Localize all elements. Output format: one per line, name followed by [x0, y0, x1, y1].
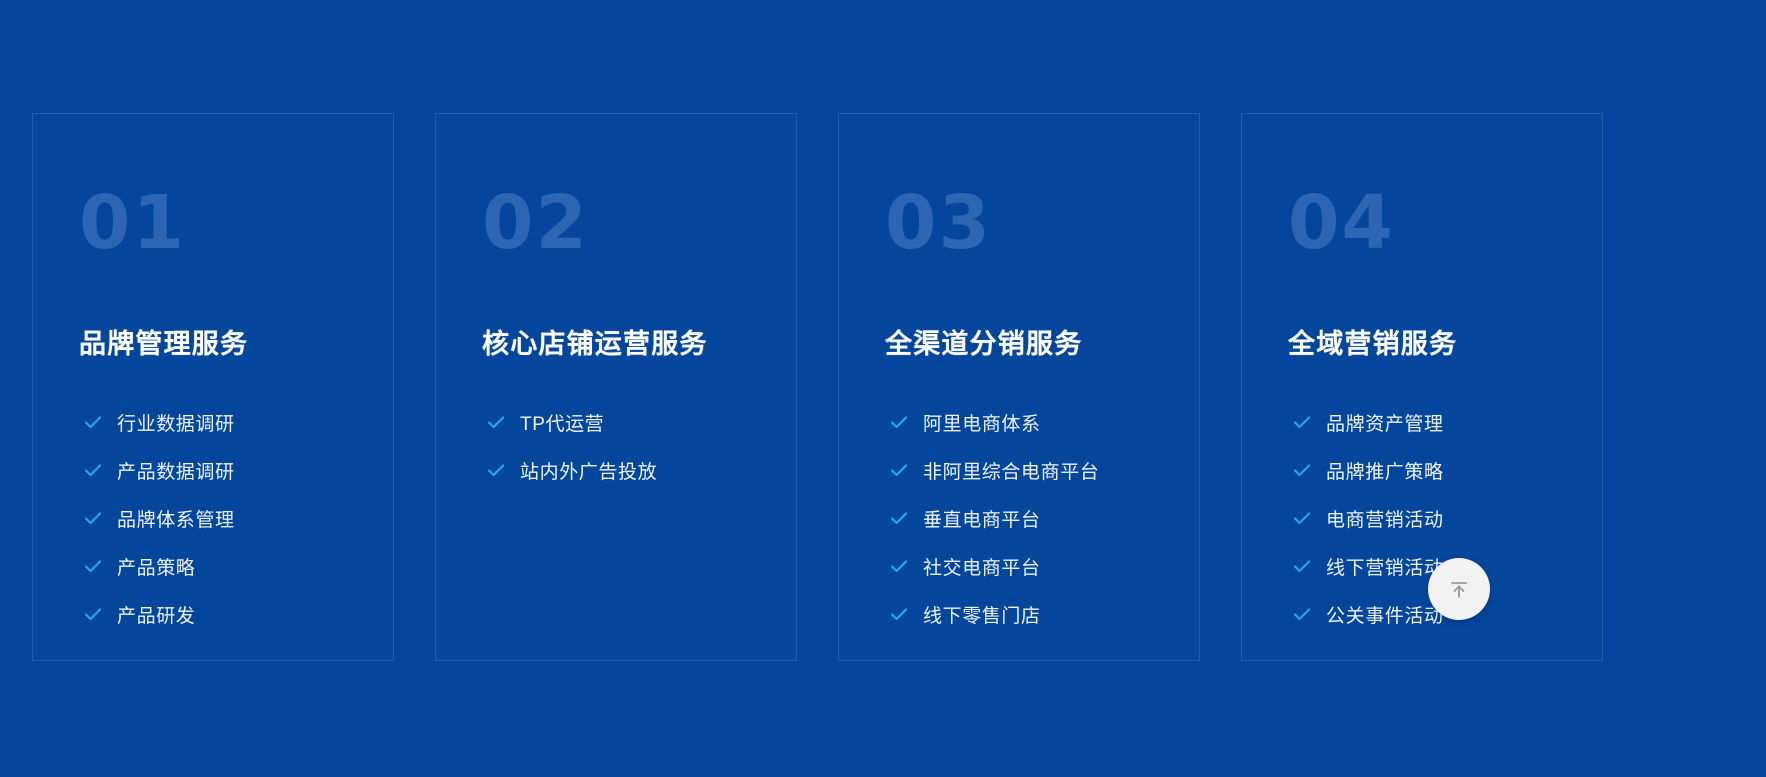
arrow-up-to-line-icon — [1446, 576, 1472, 602]
check-icon — [889, 556, 923, 576]
check-icon — [83, 556, 117, 576]
check-icon — [83, 508, 117, 528]
check-icon — [1292, 604, 1326, 624]
check-icon — [889, 460, 923, 480]
list-item-label: 品牌推广策略 — [1326, 457, 1444, 484]
card-number: 02 — [482, 186, 796, 260]
list-item-label: 非阿里综合电商平台 — [923, 457, 1099, 484]
list-item-label: 电商营销活动 — [1326, 505, 1444, 532]
list-item[interactable]: 品牌推广策略 — [1292, 446, 1602, 494]
card-number: 04 — [1288, 186, 1602, 260]
service-card[interactable]: 04全域营销服务品牌资产管理品牌推广策略电商营销活动线下营销活动公关事件活动 — [1241, 113, 1603, 661]
card-title: 全渠道分销服务 — [885, 328, 1199, 360]
card-number: 03 — [885, 186, 1199, 260]
card-title: 全域营销服务 — [1288, 328, 1602, 360]
list-item[interactable]: 非阿里综合电商平台 — [889, 446, 1199, 494]
card-feature-list: 阿里电商体系非阿里综合电商平台垂直电商平台社交电商平台线下零售门店 — [889, 398, 1199, 638]
check-icon — [1292, 508, 1326, 528]
list-item[interactable]: 行业数据调研 — [83, 398, 393, 446]
check-icon — [1292, 556, 1326, 576]
check-icon — [889, 604, 923, 624]
check-icon — [889, 412, 923, 432]
service-card[interactable]: 02核心店铺运营服务TP代运营站内外广告投放 — [435, 113, 797, 661]
check-icon — [889, 508, 923, 528]
list-item-label: 产品策略 — [117, 553, 195, 580]
list-item-label: 品牌体系管理 — [117, 505, 235, 532]
list-item-label: 产品研发 — [117, 601, 195, 628]
card-feature-list: TP代运营站内外广告投放 — [486, 398, 796, 494]
check-icon — [486, 412, 520, 432]
list-item-label: TP代运营 — [520, 409, 604, 436]
card-title: 品牌管理服务 — [79, 328, 393, 360]
list-item-label: 品牌资产管理 — [1326, 409, 1444, 436]
list-item[interactable]: 站内外广告投放 — [486, 446, 796, 494]
list-item[interactable]: 社交电商平台 — [889, 542, 1199, 590]
list-item[interactable]: 垂直电商平台 — [889, 494, 1199, 542]
check-icon — [83, 460, 117, 480]
check-icon — [1292, 412, 1326, 432]
list-item-label: 站内外广告投放 — [520, 457, 657, 484]
service-card[interactable]: 01品牌管理服务行业数据调研产品数据调研品牌体系管理产品策略产品研发 — [32, 113, 394, 661]
list-item-label: 公关事件活动 — [1326, 601, 1444, 628]
list-item[interactable]: 产品数据调研 — [83, 446, 393, 494]
list-item-label: 阿里电商体系 — [923, 409, 1041, 436]
check-icon — [486, 460, 520, 480]
list-item[interactable]: 电商营销活动 — [1292, 494, 1602, 542]
list-item-label: 产品数据调研 — [117, 457, 235, 484]
card-number: 01 — [79, 186, 393, 260]
list-item[interactable]: 品牌体系管理 — [83, 494, 393, 542]
list-item[interactable]: 产品策略 — [83, 542, 393, 590]
list-item-label: 线下零售门店 — [923, 601, 1041, 628]
list-item-label: 社交电商平台 — [923, 553, 1041, 580]
list-item-label: 行业数据调研 — [117, 409, 235, 436]
service-card[interactable]: 03全渠道分销服务阿里电商体系非阿里综合电商平台垂直电商平台社交电商平台线下零售… — [838, 113, 1200, 661]
list-item[interactable]: 线下零售门店 — [889, 590, 1199, 638]
list-item[interactable]: TP代运营 — [486, 398, 796, 446]
card-title: 核心店铺运营服务 — [482, 328, 796, 360]
check-icon — [83, 604, 117, 624]
page-section: 01品牌管理服务行业数据调研产品数据调研品牌体系管理产品策略产品研发02核心店铺… — [0, 0, 1766, 777]
list-item[interactable]: 阿里电商体系 — [889, 398, 1199, 446]
list-item[interactable]: 产品研发 — [83, 590, 393, 638]
list-item[interactable]: 品牌资产管理 — [1292, 398, 1602, 446]
card-feature-list: 行业数据调研产品数据调研品牌体系管理产品策略产品研发 — [83, 398, 393, 638]
check-icon — [83, 412, 117, 432]
list-item-label: 线下营销活动 — [1326, 553, 1444, 580]
check-icon — [1292, 460, 1326, 480]
scroll-to-top-button[interactable] — [1428, 558, 1490, 620]
list-item-label: 垂直电商平台 — [923, 505, 1041, 532]
